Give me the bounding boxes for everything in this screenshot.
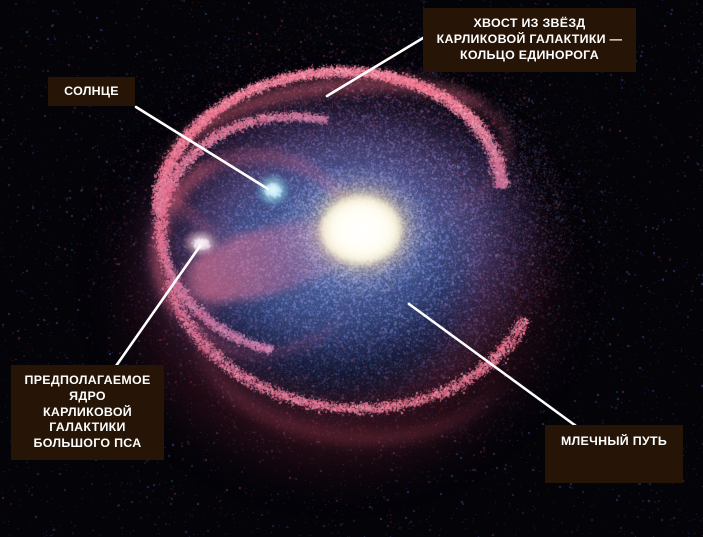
leader-line-sun [136, 107, 268, 189]
sun-label-text: СОЛНЦЕ [64, 84, 119, 100]
galaxy-illustration: ХВОСТ ИЗ ЗВЁЗД КАРЛИКОВОЙ ГАЛАКТИКИ — КО… [0, 0, 703, 537]
sun-label: СОЛНЦЕ [48, 77, 135, 106]
milky-way-label: МЛЕЧНЫЙ ПУТЬ [545, 425, 683, 483]
leader-line-unicorn-ring [327, 38, 423, 96]
unicorn-ring-label: ХВОСТ ИЗ ЗВЁЗД КАРЛИКОВОЙ ГАЛАКТИКИ — КО… [423, 8, 636, 72]
canis-major-core-label-text: ПРЕДПОЛАГАЕМОЕ ЯДРО КАРЛИКОВОЙ ГАЛАКТИКИ… [24, 373, 150, 452]
unicorn-ring-label-text: ХВОСТ ИЗ ЗВЁЗД КАРЛИКОВОЙ ГАЛАКТИКИ — КО… [437, 16, 623, 64]
leader-line-milky-way [409, 304, 576, 426]
milky-way-label-text: МЛЕЧНЫЙ ПУТЬ [561, 434, 667, 450]
leader-line-cma-core [116, 246, 200, 366]
canis-major-core-label: ПРЕДПОЛАГАЕМОЕ ЯДРО КАРЛИКОВОЙ ГАЛАКТИКИ… [11, 365, 164, 460]
